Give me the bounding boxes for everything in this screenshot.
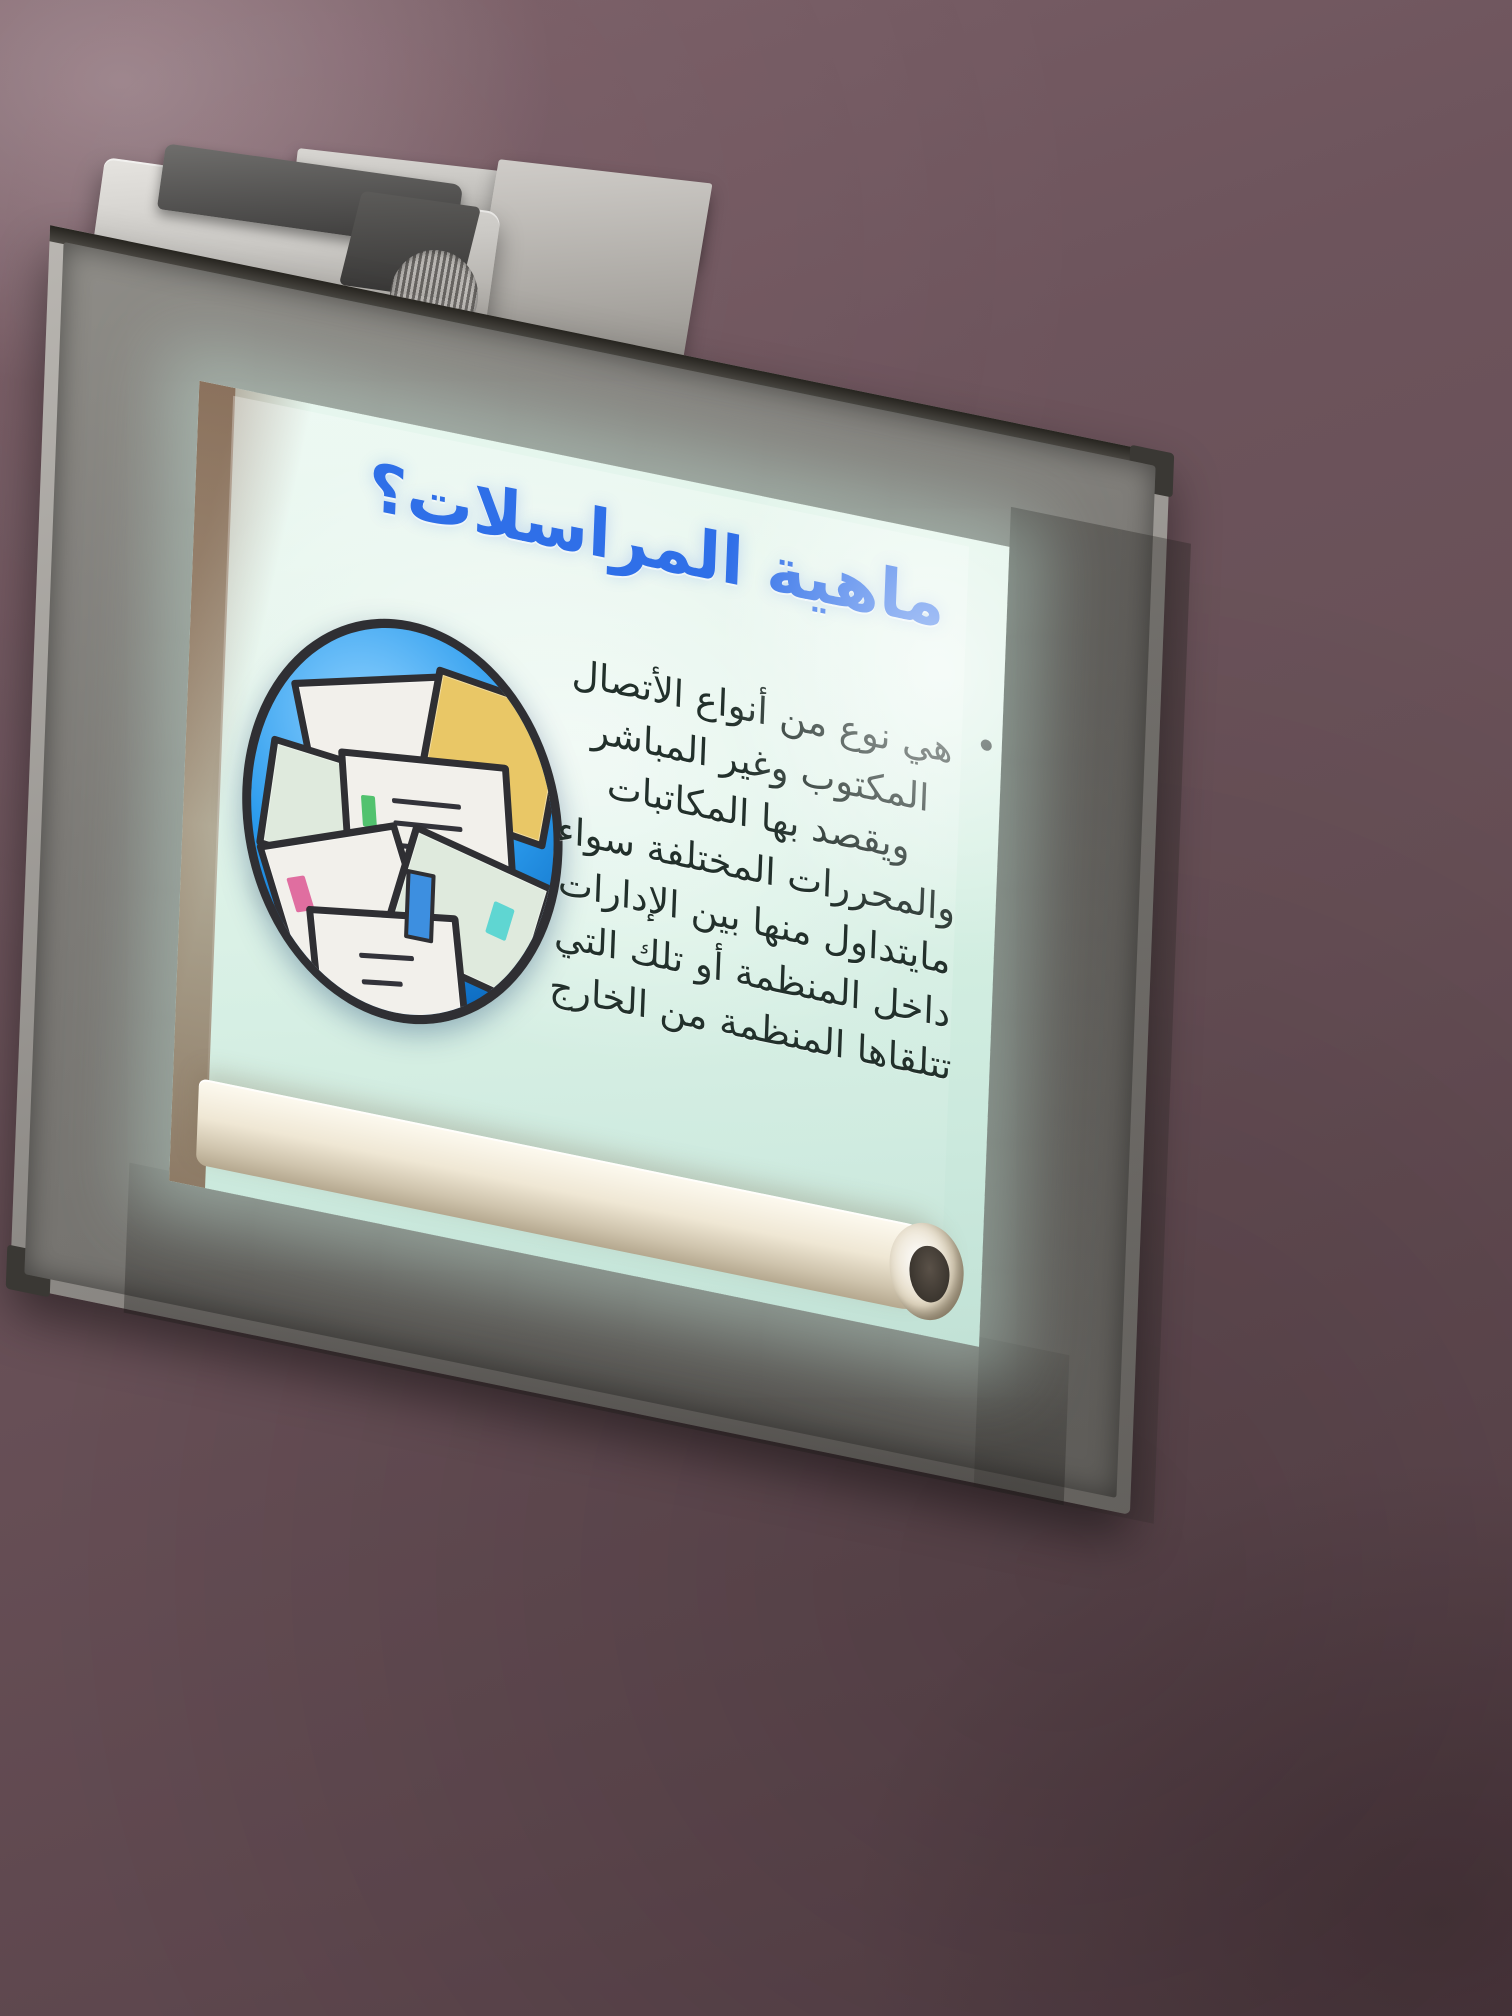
projector-signal-cable — [558, 520, 622, 638]
ceiling-projector: EPSON EPSON — [60, 140, 680, 430]
projector-brand-logo: EPSON — [185, 402, 250, 429]
projector-mount-plate — [463, 159, 713, 401]
